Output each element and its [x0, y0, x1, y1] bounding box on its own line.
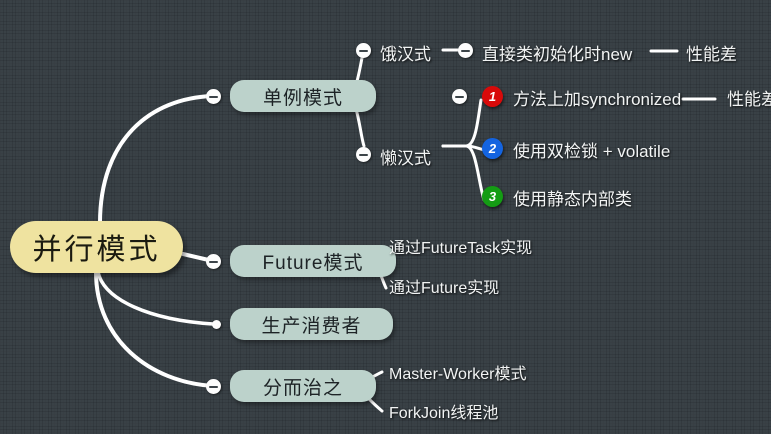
- connector-lines: [0, 0, 771, 434]
- link-root-divide: [96, 272, 213, 386]
- node-eager-new-note-label: 性能差: [686, 40, 737, 65]
- node-eager-label: 饿汉式: [380, 40, 431, 65]
- node-producer-consumer[interactable]: 生产消费者: [230, 308, 393, 340]
- node-forkjoin[interactable]: ForkJoin线程池: [389, 399, 498, 423]
- node-futuretask[interactable]: 通过FutureTask实现: [389, 234, 532, 258]
- bullet-producer-consumer[interactable]: [212, 320, 221, 329]
- badge-3-icon: 3: [482, 186, 503, 207]
- node-master-worker-label: Master-Worker模式: [389, 360, 527, 384]
- node-lazy-sync-label: 方法上加synchronized: [513, 85, 681, 110]
- node-forkjoin-label: ForkJoin线程池: [389, 399, 498, 423]
- node-eager[interactable]: 饿汉式: [380, 40, 431, 65]
- toggle-eager-new[interactable]: [458, 43, 473, 58]
- link-lazy-dcl: [443, 146, 487, 150]
- root-node[interactable]: 并行模式: [10, 221, 183, 273]
- node-singleton[interactable]: 单例模式: [230, 80, 376, 112]
- node-lazy-dcl[interactable]: 使用双检锁 + volatile: [513, 137, 670, 162]
- toggle-singleton[interactable]: [206, 89, 221, 104]
- link-lazy-holder: [443, 146, 484, 200]
- node-eager-new-label: 直接类初始化时new: [482, 40, 632, 65]
- node-master-worker[interactable]: Master-Worker模式: [389, 360, 527, 384]
- node-lazy-holder-label: 使用静态内部类: [513, 185, 632, 210]
- badge-1-icon: 1: [482, 86, 503, 107]
- toggle-lazy-sync[interactable]: [452, 89, 467, 104]
- node-future-plain[interactable]: 通过Future实现: [389, 274, 499, 298]
- toggle-divide-conquer[interactable]: [206, 379, 221, 394]
- node-producer-consumer-label: 生产消费者: [261, 311, 361, 338]
- node-lazy-sync-note[interactable]: 性能差: [727, 85, 771, 110]
- node-future-plain-label: 通过Future实现: [389, 274, 499, 298]
- node-lazy[interactable]: 懒汉式: [380, 144, 431, 169]
- node-lazy-label: 懒汉式: [380, 144, 431, 169]
- node-lazy-sync-note-label: 性能差: [727, 85, 771, 110]
- badge-1-number: 1: [489, 89, 496, 104]
- badge-2-number: 2: [489, 141, 496, 156]
- node-singleton-label: 单例模式: [263, 83, 343, 110]
- node-future[interactable]: Future模式: [230, 245, 396, 277]
- badge-3-number: 3: [489, 189, 496, 204]
- toggle-future[interactable]: [206, 254, 221, 269]
- node-lazy-sync[interactable]: 方法上加synchronized: [513, 85, 681, 110]
- node-divide-conquer-label: 分而治之: [263, 373, 343, 400]
- node-lazy-dcl-label: 使用双检锁 + volatile: [513, 137, 670, 162]
- node-eager-new[interactable]: 直接类初始化时new: [482, 40, 632, 65]
- mindmap-canvas[interactable]: 并行模式 单例模式 饿汉式 直接类初始化时new 性能差 懒汉式 1 方法上加s…: [0, 0, 771, 434]
- toggle-eager[interactable]: [356, 43, 371, 58]
- node-divide-conquer[interactable]: 分而治之: [230, 370, 376, 402]
- node-futuretask-label: 通过FutureTask实现: [389, 234, 532, 258]
- node-lazy-holder[interactable]: 使用静态内部类: [513, 185, 632, 210]
- node-future-label: Future模式: [263, 248, 364, 275]
- link-root-producer: [98, 272, 213, 324]
- root-node-label: 并行模式: [32, 226, 160, 268]
- link-root-singleton: [100, 96, 213, 223]
- node-eager-new-note[interactable]: 性能差: [686, 40, 737, 65]
- toggle-lazy[interactable]: [356, 147, 371, 162]
- link-lazy-sync: [443, 100, 481, 146]
- badge-2-icon: 2: [482, 138, 503, 159]
